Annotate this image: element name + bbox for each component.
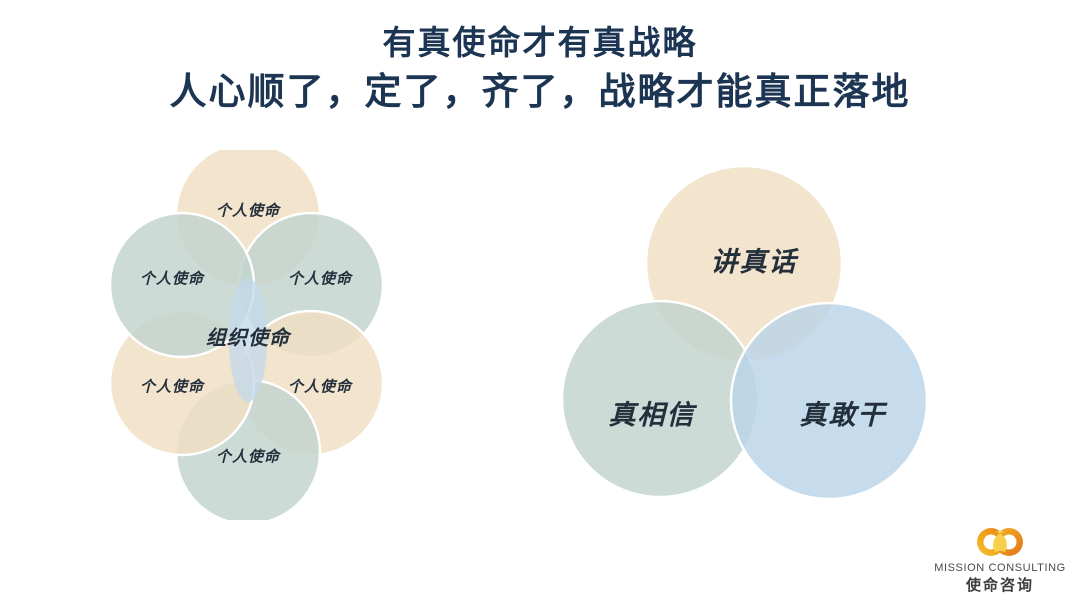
venn-petal-label-upper-right: 个人使命 [288,269,354,287]
brand-logo: MISSION CONSULTING 使命咨询 [934,524,1066,596]
title-line-primary: 有真使命才有真战略 [0,24,1080,64]
venn-petal-label-bottom: 个人使命 [216,447,282,465]
venn-petal-label-upper-left: 个人使命 [140,269,206,287]
venn-circle-bottom-left [562,301,758,497]
title-line-secondary: 人心顺了，定了，齐了，战略才能真正落地 [0,70,1080,115]
right-venn-circles [562,166,927,499]
infinity-loop-icon [969,524,1031,560]
venn-circle-label-bottom-left: 真相信 [609,400,698,430]
slide-title: 有真使命才有真战略 人心顺了，定了，齐了，战略才能真正落地 [0,24,1080,115]
organizational-mission-venn: 个人使命个人使命个人使命个人使命个人使命个人使命组织使命 [60,150,440,520]
left-venn-svg: 个人使命个人使命个人使命个人使命个人使命个人使命组织使命 [60,150,440,520]
venn-center-label: 组织使命 [206,327,292,350]
logo-text-chinese: 使命咨询 [934,577,1066,597]
right-venn-svg: 讲真话真相信真敢干 [530,150,970,520]
venn-petal-label-lower-left: 个人使命 [140,377,206,395]
venn-petal-label-top: 个人使命 [216,201,282,219]
venn-circle-label-top: 讲真话 [711,247,800,277]
three-truths-venn: 讲真话真相信真敢干 [530,150,970,520]
venn-circle-label-bottom-right: 真敢干 [800,400,889,430]
venn-petal-label-lower-right: 个人使命 [288,377,354,395]
logo-text-english: MISSION CONSULTING [934,562,1066,576]
